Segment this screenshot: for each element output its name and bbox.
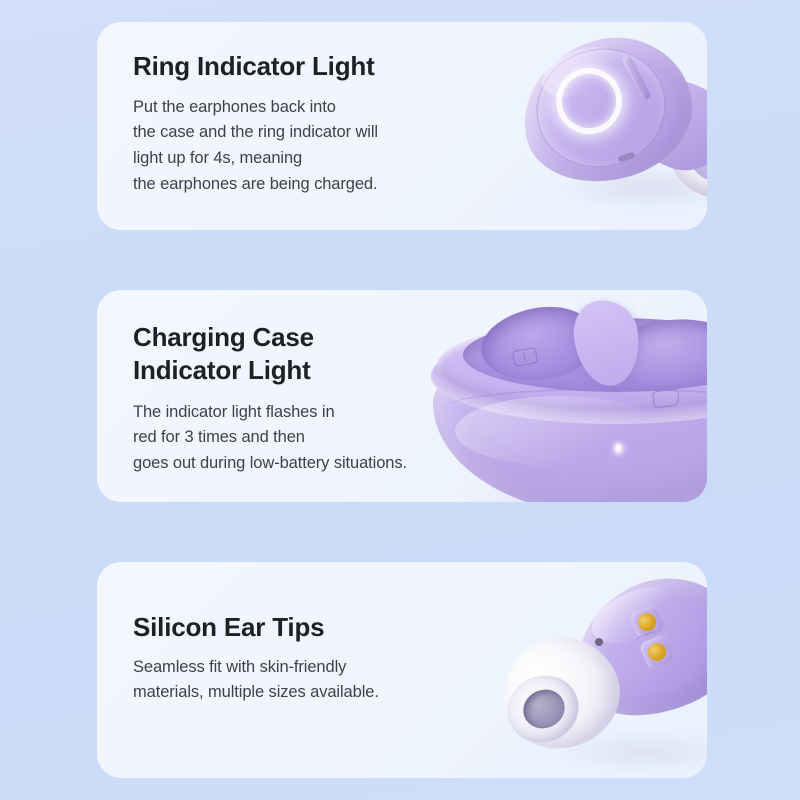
- page-title: Ring Indicator Light: [133, 50, 378, 83]
- product-feature-infographic: { "page": { "background_color": "#cddcf8…: [0, 0, 800, 800]
- feature-card-ring-indicator-light: Ring Indicator Light Put the earphones b…: [97, 22, 707, 230]
- page-title: Silicon Ear Tips: [133, 611, 379, 644]
- feature-card-silicon-ear-tips: Silicon Ear Tips Seamless fit with skin-…: [97, 562, 707, 778]
- card-text-block: Charging Case Indicator Light The indica…: [133, 321, 407, 477]
- card-description: Seamless fit with skin-friendly material…: [133, 655, 379, 706]
- eartip-microphone-hole: [595, 638, 603, 646]
- case-indicator-light-icon: [615, 444, 622, 453]
- card-description: Put the earphones back into the case and…: [133, 95, 378, 198]
- case-highlight: [455, 396, 665, 466]
- card-description: The indicator light flashes in red for 3…: [133, 400, 407, 477]
- earbud-with-ring-indicator-image: [492, 22, 707, 230]
- card-text-block: Silicon Ear Tips Seamless fit with skin-…: [133, 611, 379, 706]
- feature-card-charging-case-indicator-light: Charging Case Indicator Light The indica…: [97, 290, 707, 502]
- card-text-block: Ring Indicator Light Put the earphones b…: [133, 50, 378, 198]
- page-title: Charging Case Indicator Light: [133, 321, 407, 387]
- earbud-with-silicone-ear-tip-image: [485, 572, 707, 778]
- charging-case-image: [415, 296, 707, 502]
